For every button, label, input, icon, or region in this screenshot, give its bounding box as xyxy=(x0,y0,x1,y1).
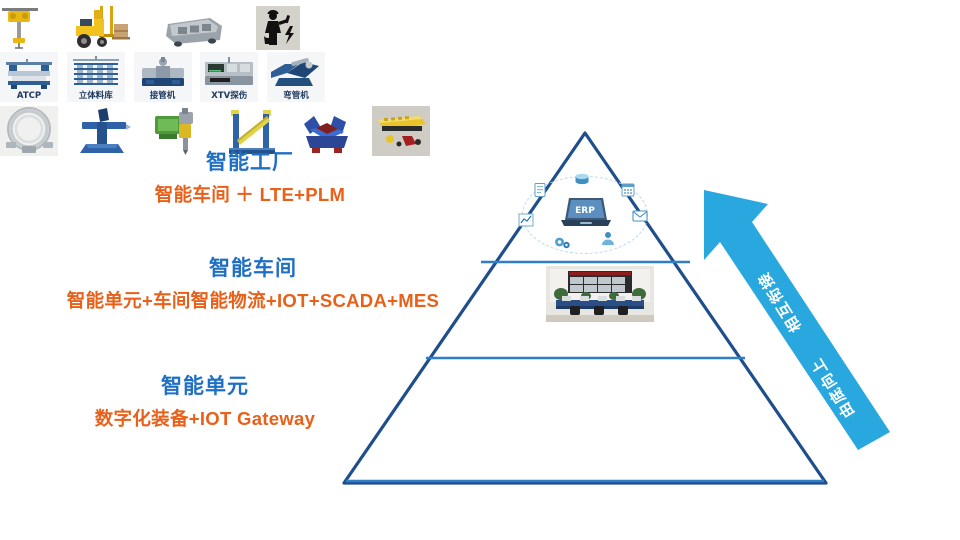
level-smart-workshop-text: 智能车间 智能单元+车间智能物流+IOT+SCADA+MES xyxy=(28,256,478,312)
database-icon xyxy=(572,172,592,188)
svg-text:ERP: ERP xyxy=(575,206,595,216)
level-formula-smart-workshop: 智能单元+车间智能物流+IOT+SCADA+MES xyxy=(28,289,478,312)
person-icon xyxy=(598,230,618,246)
erp-laptop-icon: ERP xyxy=(558,196,612,230)
mail-icon xyxy=(630,208,650,224)
apex-erp-hub: ERP xyxy=(505,168,665,260)
level-title-smart-factory: 智能工厂 xyxy=(85,150,415,176)
level-title-smart-workshop: 智能车间 xyxy=(28,256,478,282)
level-formula-smart-factory: 智能车间 ＋ LTE+PLM xyxy=(85,183,415,206)
control-room-photo xyxy=(546,266,654,322)
calendar-icon xyxy=(618,182,638,198)
level-formula-smart-cell: 数字化装备+IOT Gateway xyxy=(40,407,370,430)
level-smart-factory-text: 智能工厂 智能车间 ＋ LTE+PLM xyxy=(85,150,415,206)
document-icon xyxy=(530,182,550,198)
bottom-up-arrow: 由底向上 相互衔接 xyxy=(690,160,920,450)
slide-canvas: 智能工厂 智能车间 ＋ LTE+PLM 智能车间 智能单元+车间智能物流+IOT… xyxy=(0,0,960,540)
level-title-smart-cell: 智能单元 xyxy=(40,374,370,400)
chart-icon xyxy=(516,212,536,228)
level-smart-cell-text: 智能单元 数字化装备+IOT Gateway xyxy=(40,374,370,430)
gears-icon xyxy=(552,234,572,250)
